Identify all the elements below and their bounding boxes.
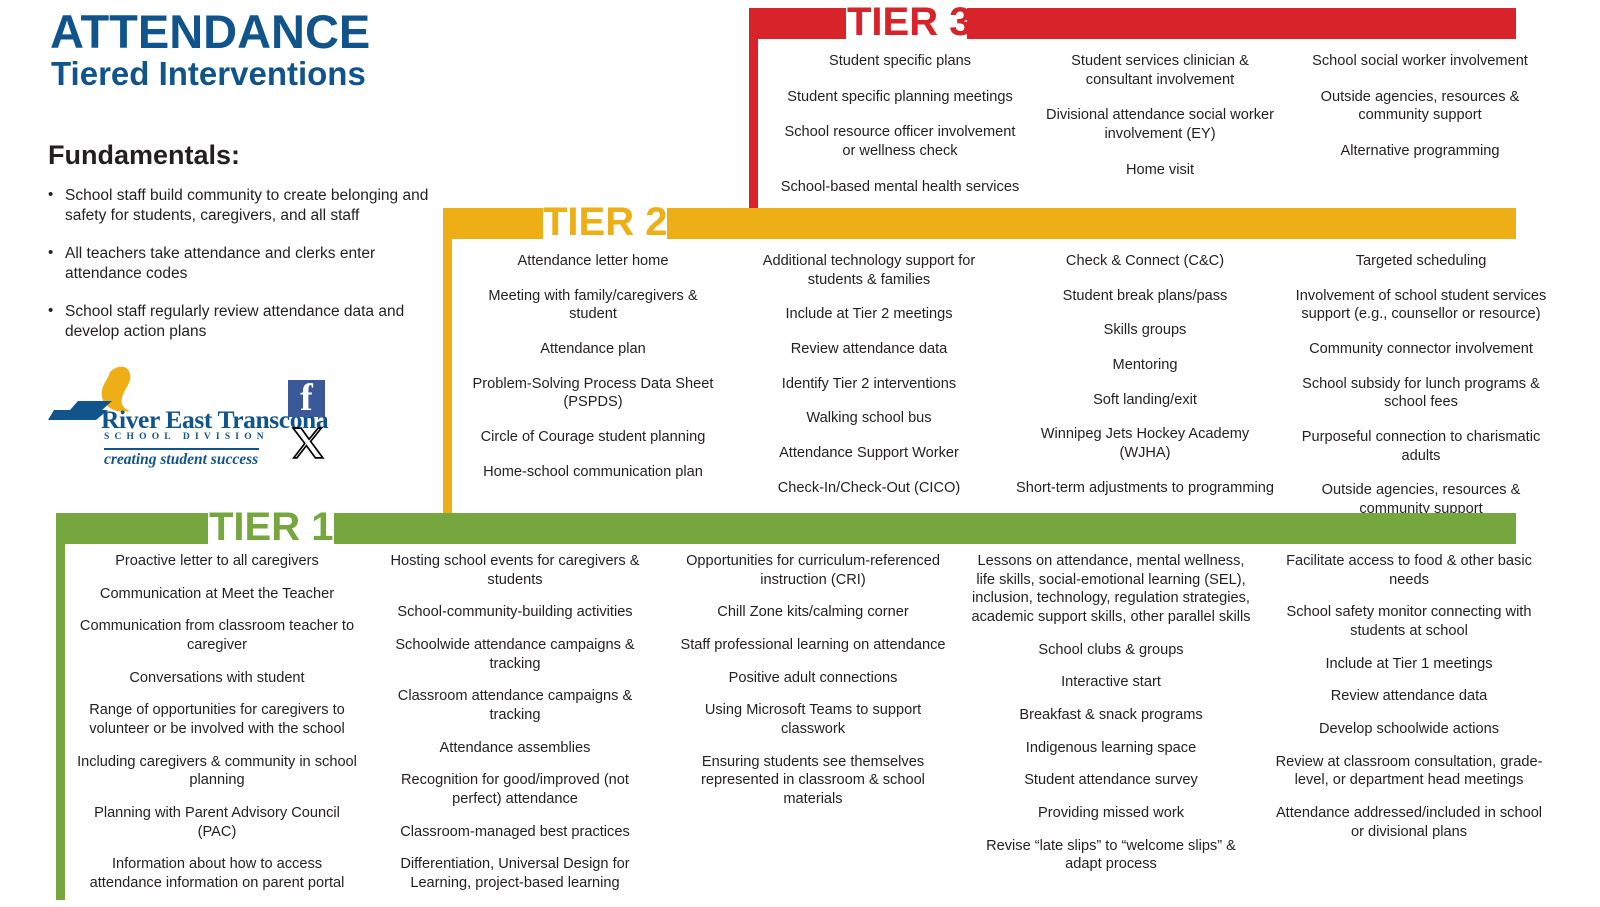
tier-1-label: TIER 1 xyxy=(209,507,333,547)
tier-item: Short-term adjustments to programming xyxy=(1016,479,1274,498)
page-title: ATTENDANCE xyxy=(50,8,370,55)
tier-item: Proactive letter to all caregivers xyxy=(77,552,357,571)
tier-3-column-3: School social worker involvement Outside… xyxy=(1290,52,1550,213)
tier-1-bar-right xyxy=(334,513,1516,544)
tier-item: Review attendance data xyxy=(740,340,998,359)
tier-item: Schoolwide attendance campaigns & tracki… xyxy=(375,636,655,673)
tier-item: Attendance assemblies xyxy=(375,739,655,758)
tier-item: Attendance plan xyxy=(464,340,722,359)
list-item: School staff build community to create b… xyxy=(48,186,438,227)
tier-2-column-4: Targeted scheduling Involvement of schoo… xyxy=(1283,252,1559,535)
tier-item: Indigenous learning space xyxy=(971,739,1251,758)
tier-item: School social worker involvement xyxy=(1299,52,1541,71)
fundamentals-list: School staff build community to create b… xyxy=(48,186,438,360)
tier-item: Divisional attendance social worker invo… xyxy=(1039,106,1281,143)
tier-item: Student specific planning meetings xyxy=(779,88,1021,107)
tier-item: Identify Tier 2 interventions xyxy=(740,375,998,394)
tier-item: Community connector involvement xyxy=(1292,340,1550,359)
tier-2-column-1: Attendance letter home Meeting with fami… xyxy=(455,252,731,535)
tier-item: Outside agencies, resources & community … xyxy=(1299,88,1541,125)
tier-item: Include at Tier 2 meetings xyxy=(740,305,998,324)
tier-1-column-3: Opportunities for curriculum-referenced … xyxy=(664,552,962,907)
tier-item: Staff professional learning on attendanc… xyxy=(673,636,953,655)
tier-item: Information about how to access attendan… xyxy=(77,855,357,892)
tier-item: Check & Connect (C&C) xyxy=(1016,252,1274,271)
tier-item: Review attendance data xyxy=(1269,687,1549,706)
tier-item: Using Microsoft Teams to support classwo… xyxy=(673,701,953,738)
logo-subname: SCHOOL DIVISION xyxy=(104,432,269,442)
tier-2-vertical-rail xyxy=(443,208,452,513)
facebook-glyph: f xyxy=(288,376,325,420)
tier-item: Purposeful connection to charismatic adu… xyxy=(1292,428,1550,465)
tier-item: Ensuring students see themselves represe… xyxy=(673,753,953,809)
tier-1-bar-left xyxy=(152,513,208,544)
tier-item: Communication at Meet the Teacher xyxy=(77,585,357,604)
tier-2-column-2: Additional technology support for studen… xyxy=(731,252,1007,535)
tier-item: Winnipeg Jets Hockey Academy (WJHA) xyxy=(1016,425,1274,462)
tier-item: Conversations with student xyxy=(77,669,357,688)
tier-item: Hosting school events for caregivers & s… xyxy=(375,552,655,589)
tier-3-bar-right xyxy=(967,8,1516,39)
social-links: f xyxy=(288,380,348,470)
tier-item: Home visit xyxy=(1039,161,1281,180)
logo-area: River East Transcona SCHOOL DIVISION cre… xyxy=(48,362,348,472)
tier-item: Differentiation, Universal Design for Le… xyxy=(375,855,655,892)
tier-item: Providing missed work xyxy=(971,804,1251,823)
tier-item: Classroom-managed best practices xyxy=(375,823,655,842)
tier-1-column-2: Hosting school events for caregivers & s… xyxy=(366,552,664,907)
page-subtitle: Tiered Interventions xyxy=(51,57,366,90)
tier-3-label: TIER 3 xyxy=(847,2,971,42)
tier-item: Range of opportunities for caregivers to… xyxy=(77,701,357,738)
tier-item: Mentoring xyxy=(1016,356,1274,375)
tier-item: Student specific plans xyxy=(779,52,1021,71)
tier-1-column-1: Proactive letter to all caregivers Commu… xyxy=(68,552,366,907)
tier-item: Develop schoolwide actions xyxy=(1269,720,1549,739)
tier-3-columns: Student specific plans Student specific … xyxy=(770,52,1560,213)
tier-item: School subsidy for lunch programs & scho… xyxy=(1292,375,1550,412)
tier-item: Communication from classroom teacher to … xyxy=(77,617,357,654)
tier-1-vertical-rail xyxy=(56,513,65,900)
tier-1-column-4: Lessons on attendance, mental wellness, … xyxy=(962,552,1260,907)
tier-item: Including caregivers & community in scho… xyxy=(77,753,357,790)
tier-item: Additional technology support for studen… xyxy=(740,252,998,289)
tier-item: Check-In/Check-Out (CICO) xyxy=(740,479,998,498)
tier-2-bar-right xyxy=(667,208,1516,239)
tier-item: Recognition for good/improved (not perfe… xyxy=(375,771,655,808)
tier-item: School safety monitor connecting with st… xyxy=(1269,603,1549,640)
tier-2-label: TIER 2 xyxy=(543,202,667,242)
tier-item: Attendance letter home xyxy=(464,252,722,271)
tier-item: Targeted scheduling xyxy=(1292,252,1550,271)
tier-3-column-2: Student services clinician & consultant … xyxy=(1030,52,1290,213)
tier-item: Opportunities for curriculum-referenced … xyxy=(673,552,953,589)
tier-item: School-community-building activities xyxy=(375,603,655,622)
facebook-icon[interactable]: f xyxy=(288,380,325,417)
tier-item: Home-school communication plan xyxy=(464,463,722,482)
tier-item: Breakfast & snack programs xyxy=(971,706,1251,725)
tier-2-column-3: Check & Connect (C&C) Student break plan… xyxy=(1007,252,1283,535)
tier-item: Lessons on attendance, mental wellness, … xyxy=(971,552,1251,627)
tier-item: Include at Tier 1 meetings xyxy=(1269,655,1549,674)
tier-3-column-1: Student specific plans Student specific … xyxy=(770,52,1030,213)
tier-3-vertical-rail xyxy=(749,8,758,215)
tier-item: Student break plans/pass xyxy=(1016,287,1274,306)
tier-item: Meeting with family/caregivers & student xyxy=(464,287,722,324)
tier-item: Interactive start xyxy=(971,673,1251,692)
tier-2-bar-left xyxy=(487,208,543,239)
x-twitter-icon[interactable] xyxy=(291,426,325,460)
tier-item: Classroom attendance campaigns & trackin… xyxy=(375,687,655,724)
list-item: School staff regularly review attendance… xyxy=(48,302,438,343)
list-item: All teachers take attendance and clerks … xyxy=(48,244,438,285)
tier-3-bar-left xyxy=(790,8,846,39)
tier-item: Skills groups xyxy=(1016,321,1274,340)
tier-item: Attendance Support Worker xyxy=(740,444,998,463)
tier-item: Student attendance survey xyxy=(971,771,1251,790)
tier-item: Chill Zone kits/calming corner xyxy=(673,603,953,622)
tier-item: Problem-Solving Process Data Sheet (PSPD… xyxy=(464,375,722,412)
tier-item: Facilitate access to food & other basic … xyxy=(1269,552,1549,589)
tier-1-column-5: Facilitate access to food & other basic … xyxy=(1260,552,1558,907)
tier-item: Review at classroom consultation, grade-… xyxy=(1269,753,1549,790)
tier-item: Attendance addressed/included in school … xyxy=(1269,804,1549,841)
tier-item: Circle of Courage student planning xyxy=(464,428,722,447)
tier-item: Planning with Parent Advisory Council (P… xyxy=(77,804,357,841)
tier-item: Walking school bus xyxy=(740,409,998,428)
tier-item: School-based mental health services xyxy=(779,178,1021,197)
river-east-transcona-logo: River East Transcona SCHOOL DIVISION cre… xyxy=(48,362,278,467)
logo-divider xyxy=(104,448,259,450)
tier-1-columns: Proactive letter to all caregivers Commu… xyxy=(68,552,1558,907)
tier-item: Positive adult connections xyxy=(673,669,953,688)
fundamentals-heading: Fundamentals: xyxy=(48,140,240,171)
tier-item: Alternative programming xyxy=(1299,142,1541,161)
tier-item: Involvement of school student services s… xyxy=(1292,287,1550,324)
tier-item: Student services clinician & consultant … xyxy=(1039,52,1281,89)
logo-tagline: creating student success xyxy=(104,451,258,469)
tier-item: School resource officer involvement or w… xyxy=(779,123,1021,160)
tier-item: School clubs & groups xyxy=(971,641,1251,660)
tier-item: Revise “late slips” to “welcome slips” &… xyxy=(971,837,1251,874)
tier-2-columns: Attendance letter home Meeting with fami… xyxy=(455,252,1560,535)
tier-item: Soft landing/exit xyxy=(1016,391,1274,410)
